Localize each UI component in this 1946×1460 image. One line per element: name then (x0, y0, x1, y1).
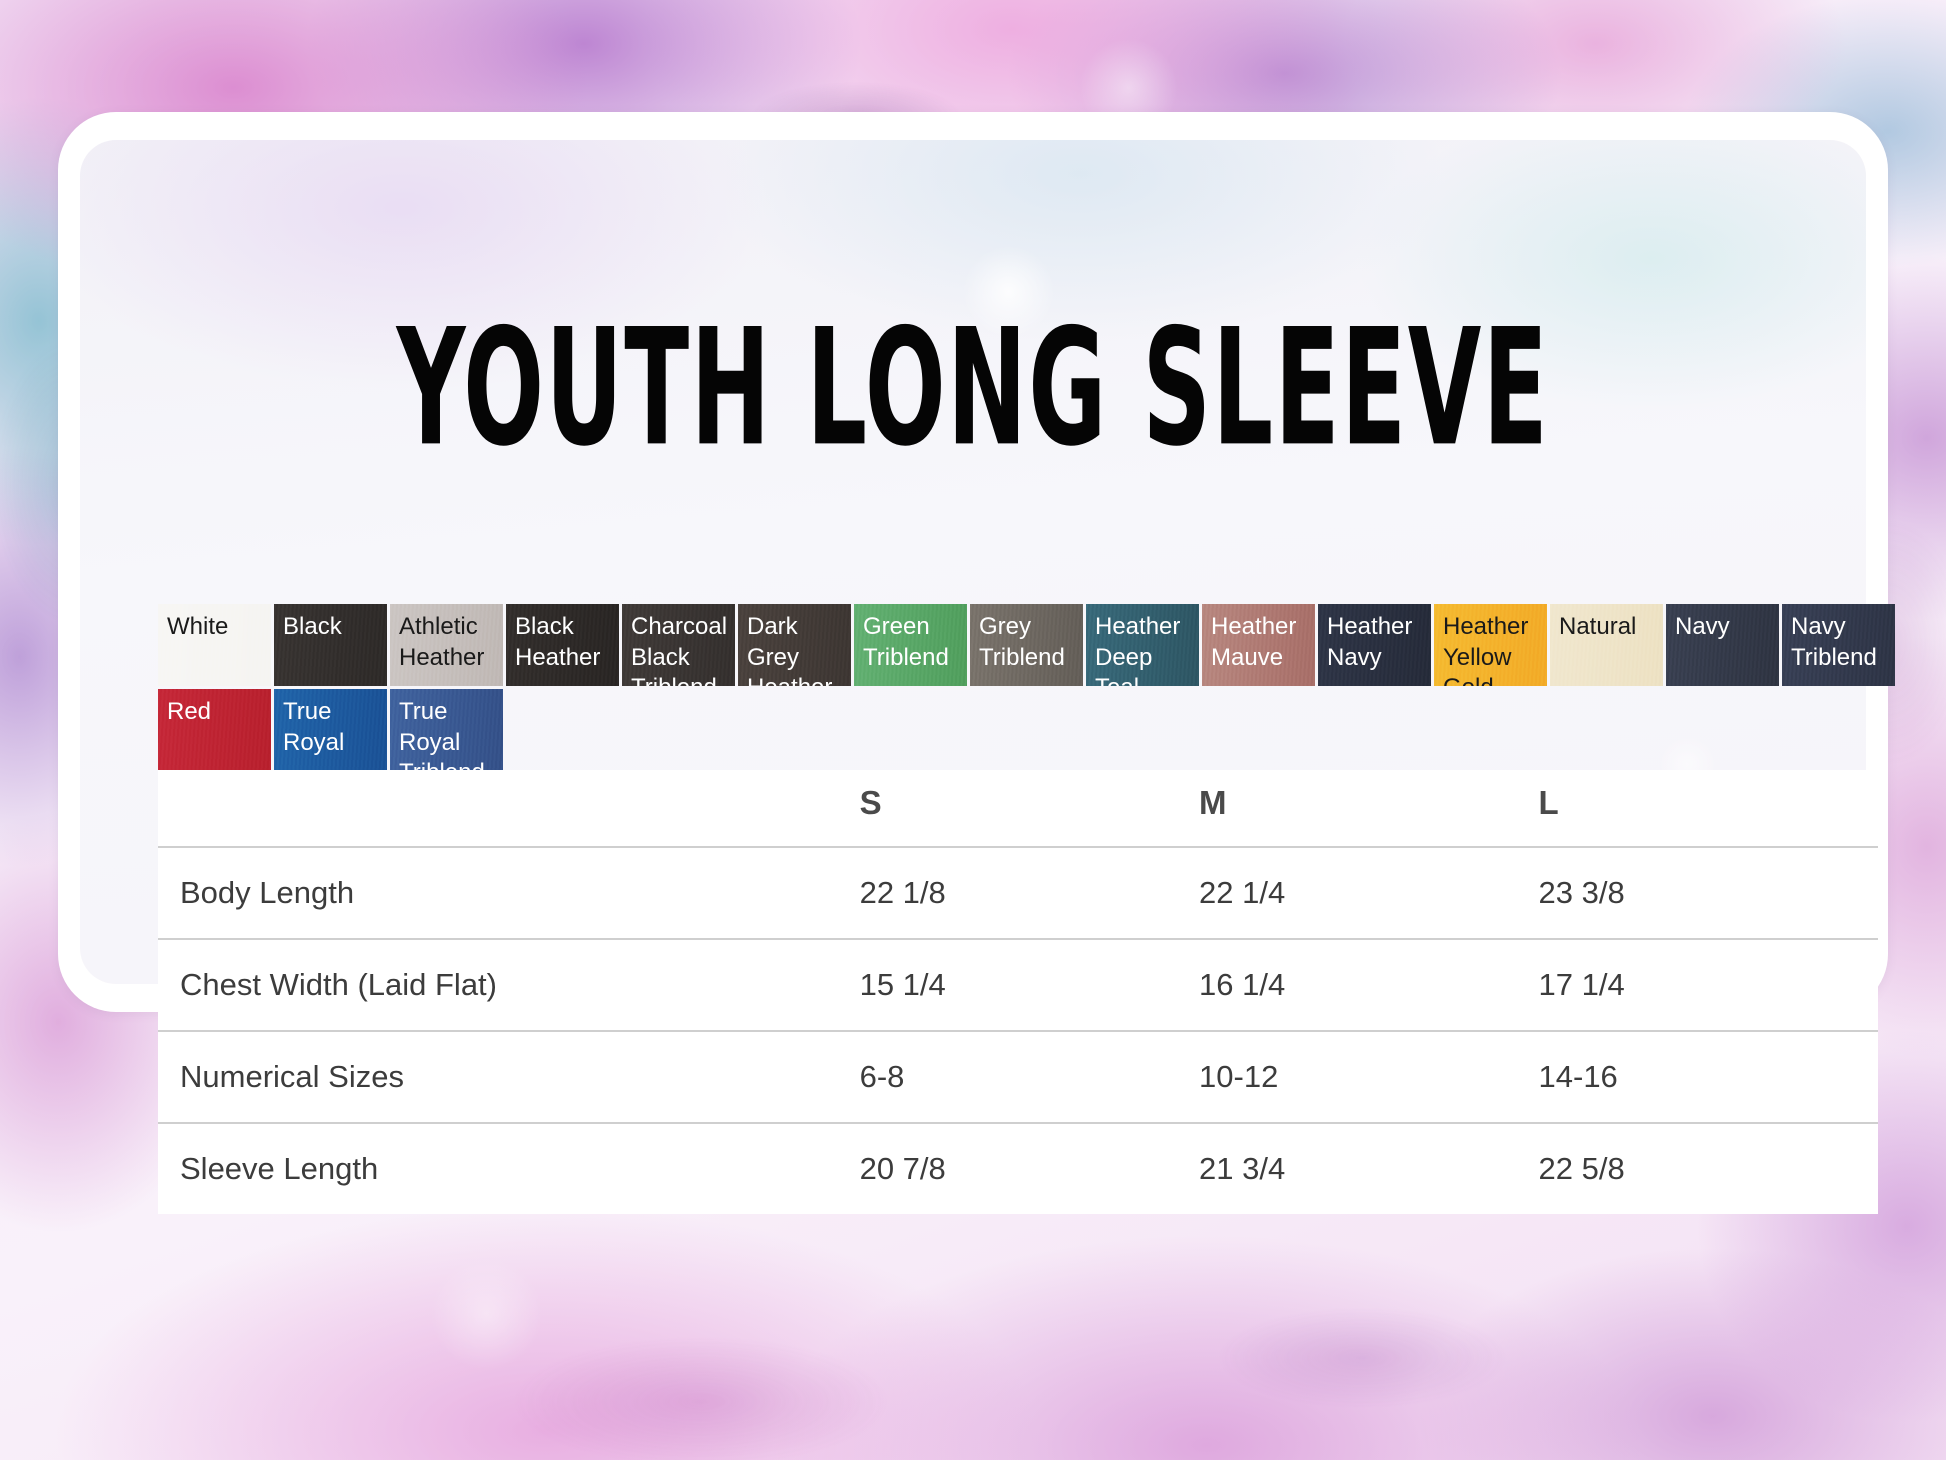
color-swatch[interactable]: White (158, 604, 271, 686)
measurement-label: Sleeve Length (158, 1123, 860, 1214)
color-swatch-label: Black (283, 612, 380, 643)
color-swatch[interactable]: Heather Mauve (1202, 604, 1315, 686)
size-header-l: L (1539, 770, 1878, 847)
size-chart-card: YOUTH LONG SLEEVE WhiteBlackAthletic Hea… (58, 112, 1888, 1012)
color-swatch[interactable]: Heather Navy (1318, 604, 1431, 686)
size-header-s: S (860, 770, 1199, 847)
table-row: Sleeve Length20 7/821 3/422 5/8 (158, 1123, 1878, 1214)
color-swatch-label: Dark Grey Heather (747, 612, 844, 686)
measurement-label: Chest Width (Laid Flat) (158, 939, 860, 1031)
page-title: YOUTH LONG SLEEVE (241, 308, 1705, 469)
color-swatch[interactable]: Navy (1666, 604, 1779, 686)
color-swatch-label: Black Heather (515, 612, 612, 673)
measurements-table: S M L Body Length22 1/822 1/423 3/8Chest… (158, 770, 1878, 1214)
measurement-value: 15 1/4 (860, 939, 1199, 1031)
measurement-value: 22 1/4 (1199, 847, 1538, 939)
color-swatch-label: Heather Mauve (1211, 612, 1308, 673)
size-header-m: M (1199, 770, 1538, 847)
measurement-value: 14-16 (1539, 1031, 1878, 1123)
measurement-value: 10-12 (1199, 1031, 1538, 1123)
measurements-table-body: Body Length22 1/822 1/423 3/8Chest Width… (158, 847, 1878, 1214)
measurement-value: 20 7/8 (860, 1123, 1199, 1214)
color-swatch-label: Green Triblend (863, 612, 960, 673)
color-swatch[interactable]: Grey Triblend (970, 604, 1083, 686)
measurement-value: 17 1/4 (1539, 939, 1878, 1031)
color-swatch[interactable]: Heather Yellow Gold (1434, 604, 1547, 686)
color-swatch[interactable]: True Royal (274, 689, 387, 771)
measurement-value: 22 5/8 (1539, 1123, 1878, 1214)
table-row: Chest Width (Laid Flat)15 1/416 1/417 1/… (158, 939, 1878, 1031)
color-swatch[interactable]: Black Heather (506, 604, 619, 686)
color-swatch-label: Grey Triblend (979, 612, 1076, 673)
color-swatch[interactable]: Red (158, 689, 271, 771)
color-swatch[interactable]: Athletic Heather (390, 604, 503, 686)
color-swatch[interactable]: True Royal Triblend (390, 689, 503, 771)
color-swatch[interactable]: Black (274, 604, 387, 686)
measurement-label-header (158, 770, 860, 847)
color-swatch-label: Red (167, 697, 264, 728)
measurement-label: Numerical Sizes (158, 1031, 860, 1123)
color-swatch-label: True Royal (283, 697, 380, 758)
color-swatch-label: Heather Navy (1327, 612, 1424, 673)
measurement-value: 23 3/8 (1539, 847, 1878, 939)
color-swatch[interactable]: Dark Grey Heather (738, 604, 851, 686)
measurement-value: 6-8 (860, 1031, 1199, 1123)
color-swatch-label: Charcoal Black Triblend (631, 612, 728, 686)
table-row: Body Length22 1/822 1/423 3/8 (158, 847, 1878, 939)
table-header-row: S M L (158, 770, 1878, 847)
color-swatch-label: Natural (1559, 612, 1656, 643)
color-swatch-label: Heather Deep Teal (1095, 612, 1192, 686)
color-swatch-label: Navy Triblend (1791, 612, 1888, 673)
color-swatch[interactable]: Charcoal Black Triblend (622, 604, 735, 686)
measurement-value: 16 1/4 (1199, 939, 1538, 1031)
measurement-value: 21 3/4 (1199, 1123, 1538, 1214)
measurement-value: 22 1/8 (860, 847, 1199, 939)
color-swatch-label: Navy (1675, 612, 1772, 643)
color-swatch[interactable]: Navy Triblend (1782, 604, 1895, 686)
color-swatch-label: White (167, 612, 264, 643)
color-swatch[interactable]: Green Triblend (854, 604, 967, 686)
color-swatch[interactable]: Heather Deep Teal (1086, 604, 1199, 686)
color-swatch-label: True Royal Triblend (399, 697, 496, 771)
color-swatch-label: Athletic Heather (399, 612, 496, 673)
table-row: Numerical Sizes6-810-1214-16 (158, 1031, 1878, 1123)
color-swatch[interactable]: Natural (1550, 604, 1663, 686)
color-swatch-label: Heather Yellow Gold (1443, 612, 1540, 686)
measurement-label: Body Length (158, 847, 860, 939)
color-swatch-grid: WhiteBlackAthletic HeatherBlack HeatherC… (158, 604, 1898, 771)
